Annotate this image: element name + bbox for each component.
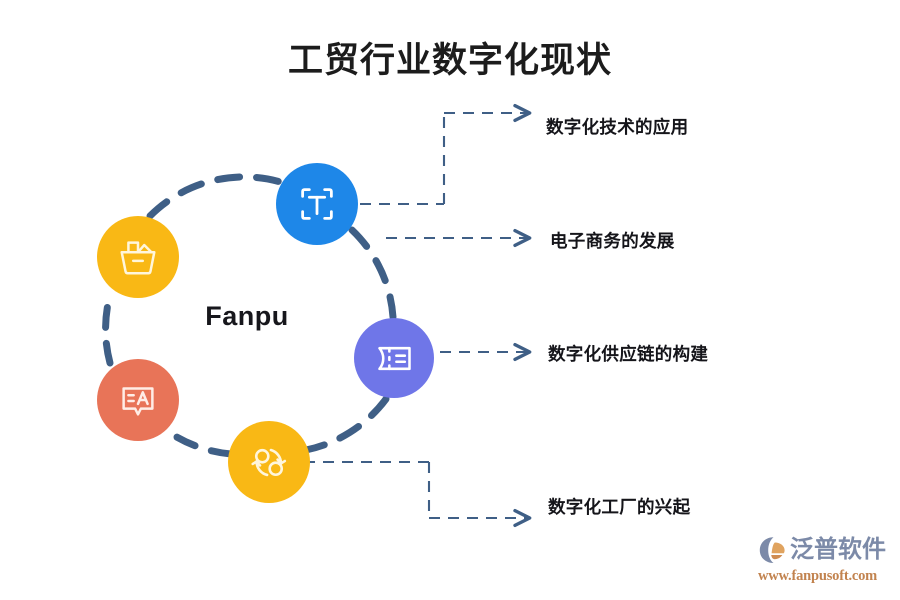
label-digital-technology-application: 数字化技术的应用: [546, 114, 688, 139]
infographic-canvas: 工贸行业数字化现状: [0, 0, 900, 600]
logo-website-url: www.fanpusoft.com: [757, 568, 893, 585]
node-basket[interactable]: [97, 216, 179, 298]
center-brand-label: Fanpu: [182, 301, 312, 332]
translate-bubble-icon: [115, 377, 161, 423]
brand-logo: 泛普软件 www.fanpusoft.com: [757, 533, 893, 589]
connector-to-label-4: [304, 462, 528, 518]
connector-to-label-1: [360, 113, 528, 204]
label-ecommerce-development: 电子商务的发展: [550, 228, 675, 253]
page-title: 工贸行业数字化现状: [0, 32, 900, 83]
connector-layer: [0, 0, 900, 600]
logo-company-name: 泛普软件: [790, 538, 886, 562]
text-scan-icon: [294, 181, 340, 227]
node-supply-list[interactable]: [354, 318, 434, 398]
node-sync[interactable]: [228, 421, 310, 503]
basket-icon: [115, 234, 161, 280]
fanpu-logo-mark-icon: [757, 534, 789, 566]
node-text-scan[interactable]: [276, 163, 358, 245]
label-digital-supply-chain: 数字化供应链的构建: [548, 341, 708, 366]
label-digital-factory-rise: 数字化工厂的兴起: [548, 494, 690, 519]
ticket-list-icon: [372, 336, 417, 381]
node-translate[interactable]: [97, 359, 179, 441]
sync-circles-icon: [246, 439, 292, 485]
